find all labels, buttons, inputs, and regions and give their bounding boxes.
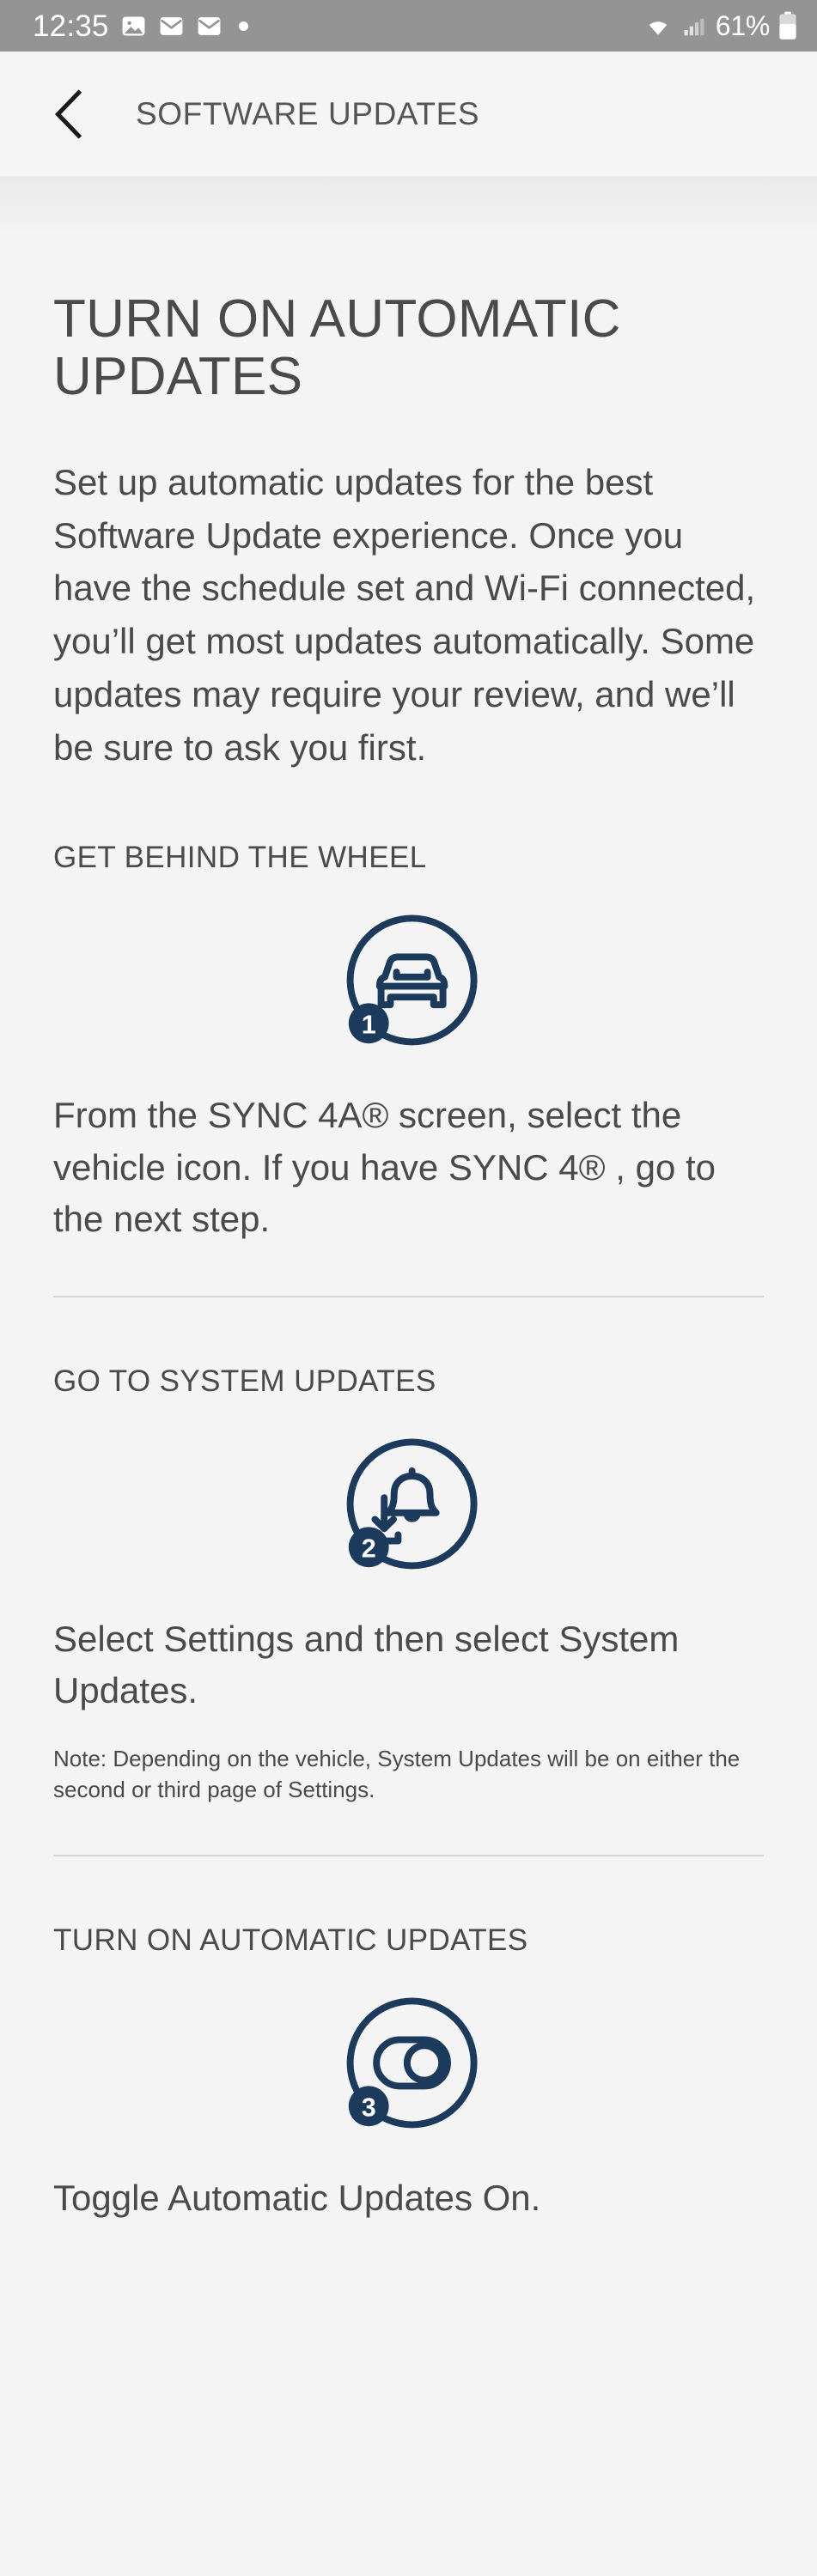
- step-section-3: TURN ON AUTOMATIC UPDATES 3 Toggle Autom…: [53, 1923, 764, 2224]
- step-body-text: Toggle Automatic Updates On.: [53, 2172, 764, 2224]
- mail-icon: [196, 13, 223, 39]
- step-badge-number: 1: [361, 1011, 375, 1040]
- step-body-text: From the SYNC 4A® screen, select the veh…: [53, 1090, 764, 1245]
- battery-percent-label: 61%: [716, 12, 770, 39]
- step-badge-number: 2: [361, 1534, 375, 1563]
- step-body-text: Select Settings and then select System U…: [53, 1613, 764, 1717]
- app-bar-separator-band: [0, 176, 817, 238]
- wifi-icon: [642, 13, 674, 39]
- step-heading: GET BEHIND THE WHEEL: [53, 841, 764, 875]
- status-bar-left: 12:35: [33, 11, 642, 41]
- status-bar-clock: 12:35: [33, 11, 109, 41]
- page-content: TURN ON AUTOMATIC UPDATES Set up automat…: [0, 291, 817, 2225]
- dot-indicator-icon: [239, 21, 248, 31]
- chevron-left-icon: [50, 89, 88, 139]
- vehicle-front-icon: 1: [332, 906, 486, 1060]
- status-bar: 12:35 61%: [0, 0, 817, 52]
- photo-icon: [120, 13, 147, 39]
- download-bell-icon: 2: [332, 1430, 486, 1584]
- page-intro-paragraph: Set up automatic updates for the best So…: [53, 456, 764, 774]
- battery-icon: [777, 11, 798, 40]
- step-badge-number: 3: [361, 2093, 375, 2123]
- page-title: TURN ON AUTOMATIC UPDATES: [53, 291, 672, 406]
- step-heading: TURN ON AUTOMATIC UPDATES: [53, 1923, 764, 1958]
- step-section-1: GET BEHIND THE WHEEL 1 From the SYNC 4A®…: [53, 841, 764, 1245]
- step-icon-wrapper: 1: [53, 906, 764, 1060]
- back-button[interactable]: [41, 87, 96, 142]
- step-icon-wrapper: 3: [53, 1989, 764, 2143]
- section-divider: [53, 1296, 764, 1297]
- step-icon-wrapper: 2: [53, 1430, 764, 1584]
- step-note-text: Note: Depending on the vehicle, System U…: [53, 1743, 741, 1806]
- app-bar: SOFTWARE UPDATES: [0, 52, 817, 176]
- cellular-signal-icon: [682, 13, 708, 39]
- step-section-2: GO TO SYSTEM UPDATES 2 Select Settings a…: [53, 1364, 764, 1806]
- section-divider: [53, 1855, 764, 1856]
- status-bar-right: 61%: [642, 11, 798, 40]
- step-heading: GO TO SYSTEM UPDATES: [53, 1364, 764, 1399]
- mail-icon: [158, 13, 185, 39]
- app-bar-title: SOFTWARE UPDATES: [136, 96, 479, 132]
- toggle-switch-icon: 3: [332, 1989, 486, 2143]
